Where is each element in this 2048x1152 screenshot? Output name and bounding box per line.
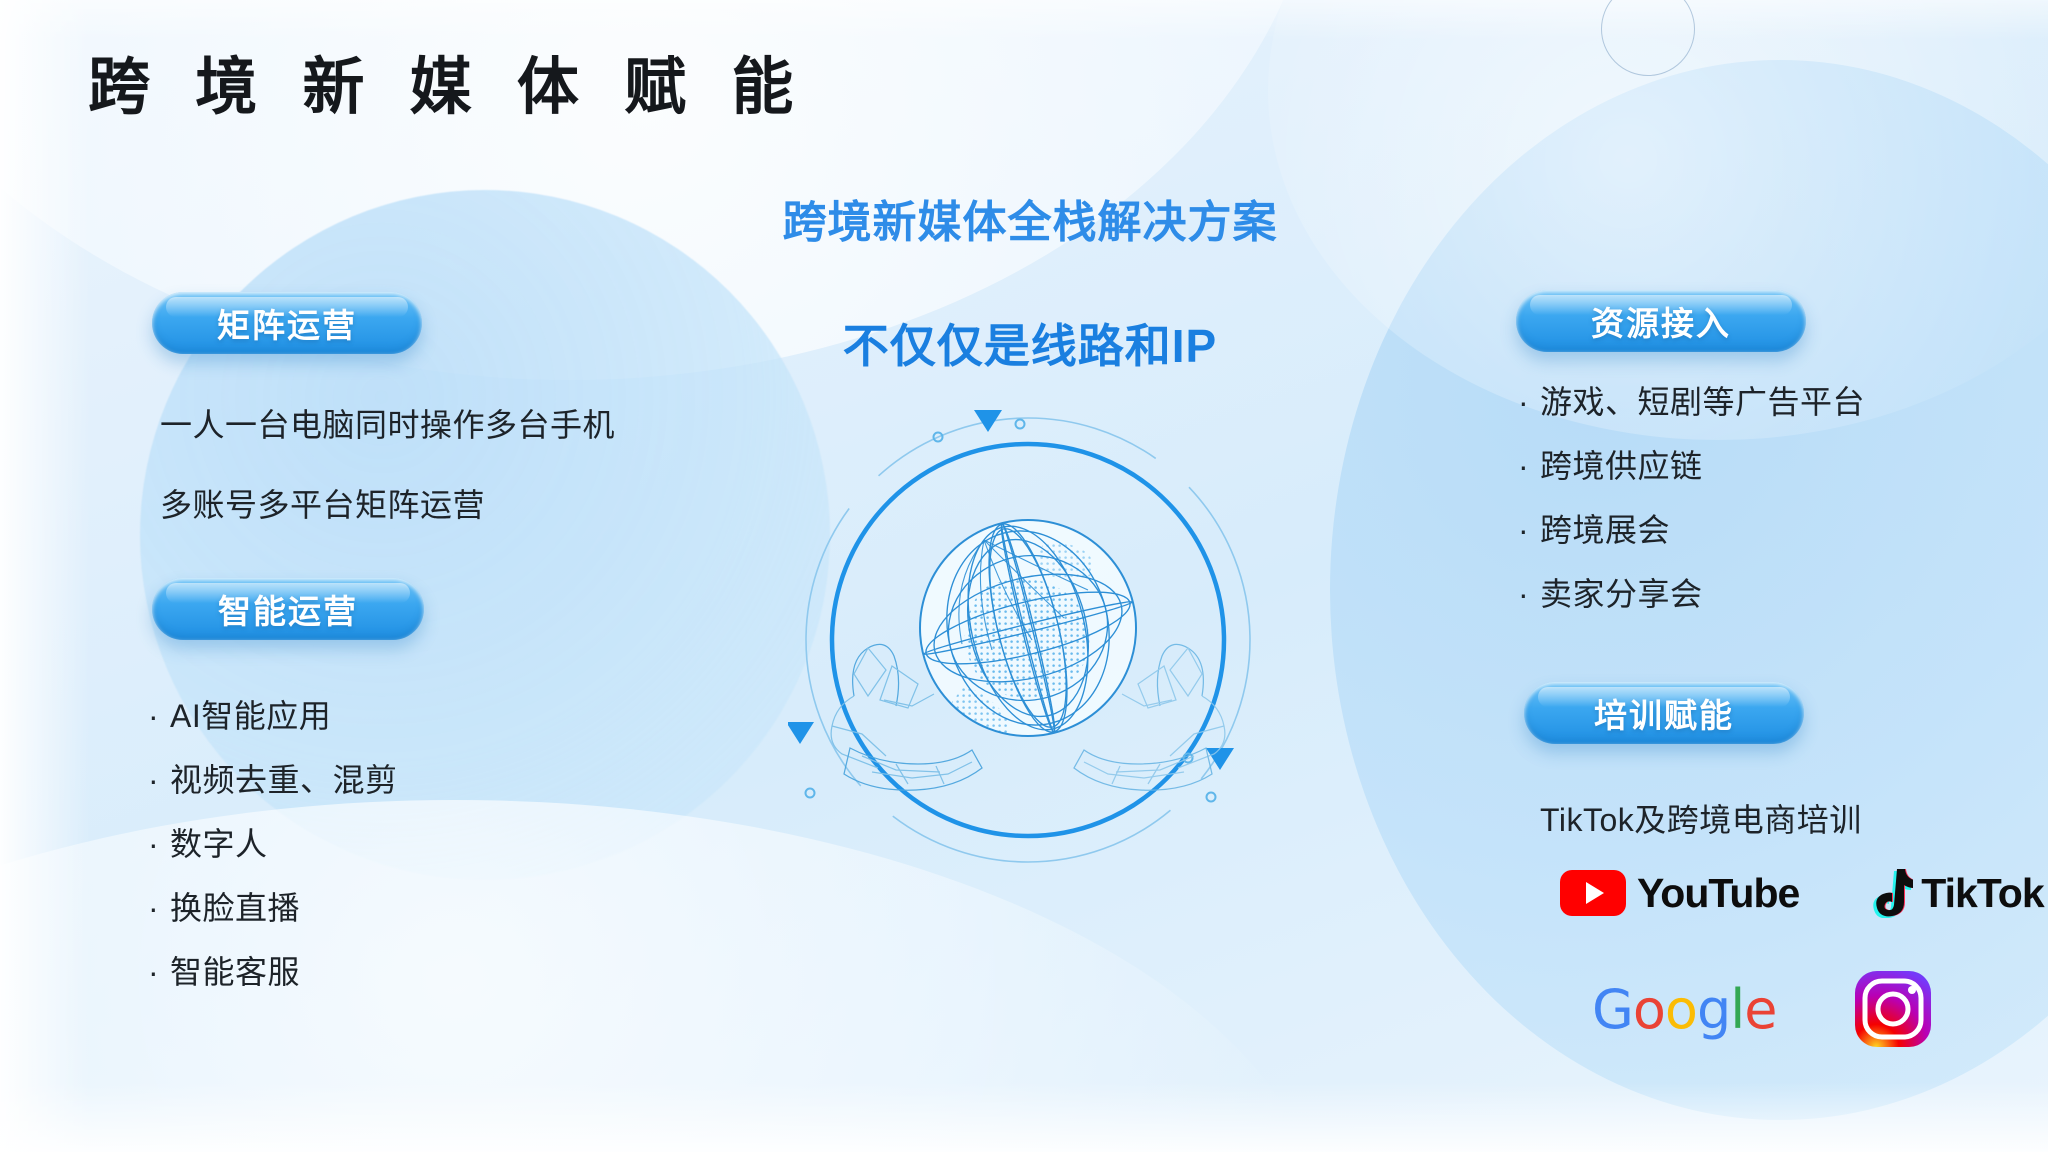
resource-access-list: ·游戏、短剧等广告平台 ·跨境供应链 ·跨境展会 ·卖家分享会 <box>1518 386 1865 642</box>
background-edge-fade-bottom <box>0 1082 2048 1152</box>
matrix-operations-line-1: 一人一台电脑同时操作多台手机 <box>160 400 615 446</box>
pill-smart-operations-label: 智能运营 <box>218 585 358 633</box>
platform-logos-row-1: YouTube TikTok <box>1560 868 2044 918</box>
list-item: ·数字人 <box>148 828 398 860</box>
smart-operations-list: ·AI智能应用 ·视频去重、混剪 ·数字人 ·换脸直播 ·智能客服 <box>148 700 398 1020</box>
list-item-label: 跨境供应链 <box>1540 448 1703 484</box>
bullet-marker-icon: · <box>1518 450 1540 482</box>
list-item-label: 跨境展会 <box>1540 512 1670 548</box>
bullet-marker-icon: · <box>148 700 170 732</box>
list-item-label: 游戏、短剧等广告平台 <box>1540 384 1865 420</box>
list-item: ·跨境供应链 <box>1518 450 1865 482</box>
youtube-play-icon <box>1560 870 1626 916</box>
bullet-marker-icon: · <box>1518 386 1540 418</box>
list-item-label: 智能客服 <box>170 954 300 990</box>
pill-matrix-operations[interactable]: 矩阵运营 <box>152 292 422 354</box>
bullet-marker-icon: · <box>148 956 170 988</box>
background-haze-top-right <box>1268 0 2048 440</box>
decorative-circle-outline-icon <box>1601 0 1695 76</box>
list-item: ·智能客服 <box>148 956 398 988</box>
instagram-logo[interactable] <box>1854 970 1932 1048</box>
list-item: ·视频去重、混剪 <box>148 764 398 796</box>
bullet-marker-icon: · <box>148 892 170 924</box>
list-item-label: 视频去重、混剪 <box>170 762 398 798</box>
training-description: TikTok及跨境电商培训 <box>1540 795 1862 841</box>
pill-smart-operations[interactable]: 智能运营 <box>152 578 424 640</box>
list-item: ·换脸直播 <box>148 892 398 924</box>
page-title: 跨 境 新 媒 体 赋 能 <box>88 36 807 126</box>
bullet-marker-icon: · <box>148 764 170 796</box>
list-item-label: 数字人 <box>170 826 268 862</box>
slide-canvas: 跨 境 新 媒 体 赋 能 跨境新媒体全栈解决方案 不仅仅是线路和IP <box>0 0 2048 1152</box>
google-logo[interactable]: Google <box>1592 978 1776 1041</box>
background-edge-fade-left <box>0 0 90 1152</box>
youtube-logo-label: YouTube <box>1637 870 1799 917</box>
globe-in-hands-illustration <box>788 400 1268 880</box>
list-item-label: 换脸直播 <box>170 890 300 926</box>
background-edge-fade-top <box>0 0 2048 40</box>
tiktok-logo-label: TikTok <box>1921 870 2043 917</box>
pill-resource-access-label: 资源接入 <box>1591 297 1731 345</box>
matrix-operations-line-2: 多账号多平台矩阵运营 <box>160 480 485 526</box>
pill-training-empowerment[interactable]: 培训赋能 <box>1524 682 1804 744</box>
tiktok-logo[interactable]: TikTok <box>1869 868 2043 918</box>
list-item-label: AI智能应用 <box>170 698 331 734</box>
pill-matrix-operations-label: 矩阵运营 <box>217 299 357 347</box>
bullet-marker-icon: · <box>1518 578 1540 610</box>
pill-training-empowerment-label: 培训赋能 <box>1594 689 1734 737</box>
pill-resource-access[interactable]: 资源接入 <box>1516 290 1806 352</box>
list-item-label: 卖家分享会 <box>1540 576 1703 612</box>
list-item: ·游戏、短剧等广告平台 <box>1518 386 1865 418</box>
list-item: ·AI智能应用 <box>148 700 398 732</box>
tiktok-note-icon <box>1869 868 1913 918</box>
youtube-logo[interactable]: YouTube <box>1560 870 1799 917</box>
bullet-marker-icon: · <box>1518 514 1540 546</box>
subheadline: 不仅仅是线路和IP <box>700 310 1360 376</box>
bullet-marker-icon: · <box>148 828 170 860</box>
platform-logos-row-2: Google <box>1592 970 1932 1048</box>
list-item: ·跨境展会 <box>1518 514 1865 546</box>
headline: 跨境新媒体全栈解决方案 <box>700 186 1360 250</box>
list-item: ·卖家分享会 <box>1518 578 1865 610</box>
